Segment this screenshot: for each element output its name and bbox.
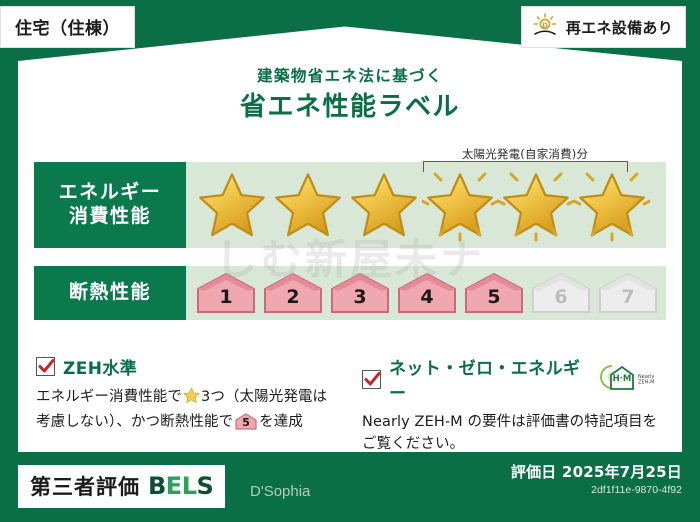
insulation-level-badge: 5 bbox=[464, 271, 524, 315]
evaluation-id: 2df1f11e-9870-4f92 bbox=[511, 484, 682, 496]
star-icon bbox=[577, 171, 647, 239]
label-title: 省エネ性能ラベル bbox=[0, 86, 700, 123]
zeh-heading-text: ZEH水準 bbox=[63, 354, 137, 379]
insulation-performance-row: 断熱性能 1234567 bbox=[34, 266, 666, 320]
bels-letter-b: B bbox=[148, 472, 166, 500]
star-icon bbox=[273, 171, 343, 239]
bels-letter-s: S bbox=[196, 472, 213, 500]
bels-logo: BELS bbox=[148, 472, 213, 500]
insulation-level-number: 4 bbox=[420, 288, 433, 315]
insulation-level-badge: 2 bbox=[263, 271, 323, 315]
insulation-level-badge: 7 bbox=[598, 271, 658, 315]
zeh-body-part3: を達成 bbox=[259, 414, 303, 430]
insulation-level-number: 7 bbox=[621, 288, 634, 315]
insulation-level-number: 1 bbox=[219, 288, 232, 315]
energy-label-line1: エネルギー bbox=[59, 181, 162, 205]
zeh-checkbox[interactable] bbox=[36, 357, 55, 376]
zeh-m-logo: H·M Nearly ZEH-M bbox=[600, 362, 662, 396]
insulation-level-number: 3 bbox=[353, 288, 366, 315]
stars-track bbox=[186, 162, 666, 248]
nze-body-text: Nearly ZEH-M の要件は評価書の特記項目をご覧ください。 bbox=[362, 411, 662, 455]
energy-star bbox=[346, 168, 422, 242]
solar-bracket bbox=[423, 161, 628, 172]
insulation-level-badge: 3 bbox=[330, 271, 390, 315]
star-icon bbox=[197, 171, 267, 239]
energy-star bbox=[422, 168, 498, 242]
label-subtitle: 建築物省エネ法に基づく bbox=[0, 64, 700, 86]
bels-letter-el: EL bbox=[166, 472, 197, 500]
renewable-badge-text: 再エネ設備あり bbox=[566, 17, 673, 38]
insulation-level-badge: 6 bbox=[531, 271, 591, 315]
insulation-label-text: 断熱性能 bbox=[69, 281, 151, 305]
solar-annotation-text: 太陽光発電(自家消費)分 bbox=[420, 146, 630, 162]
zeh-m-logo-text: H·M bbox=[613, 374, 632, 384]
solar-sun-icon: D bbox=[532, 13, 558, 41]
star-icon bbox=[349, 171, 419, 239]
net-zero-energy-section: ネット・ゼロ・エネルギー H·M Nearly ZEH-M Nearly ZEH… bbox=[362, 354, 662, 455]
nze-heading-text: ネット・ゼロ・エネルギー bbox=[389, 354, 587, 404]
insulation-label-box: 断熱性能 bbox=[34, 266, 186, 320]
energy-star bbox=[270, 168, 346, 242]
star-icon bbox=[425, 171, 495, 239]
energy-performance-row: エネルギー 消費性能 bbox=[34, 162, 666, 248]
third-party-eval-text: 第三者評価 bbox=[30, 471, 140, 501]
bels-footer-chip: 第三者評価 BELS bbox=[18, 465, 225, 508]
insulation-level-number: 5 bbox=[487, 288, 500, 315]
check-icon bbox=[364, 371, 381, 388]
check-icon bbox=[38, 358, 55, 375]
insulation-level-badge: 1 bbox=[196, 271, 256, 315]
building-type-chip: 住宅（住棟） bbox=[0, 6, 135, 48]
renewable-energy-badge: D 再エネ設備あり bbox=[521, 6, 686, 48]
star-icon bbox=[501, 171, 571, 239]
evaluation-date: 評価日 2025年7月25日 bbox=[511, 461, 682, 482]
energy-star bbox=[194, 168, 270, 242]
insulation-level-badge: 4 bbox=[397, 271, 457, 315]
inline-house-level-icon: 5 bbox=[235, 413, 257, 437]
energy-star bbox=[498, 168, 574, 242]
insulation-levels-track: 1234567 bbox=[186, 266, 666, 320]
svg-text:D: D bbox=[542, 21, 548, 29]
zeh-m-logo-sub2: ZEH-M bbox=[638, 380, 654, 386]
energy-performance-label-box: エネルギー 消費性能 bbox=[34, 162, 186, 248]
zeh-heading-row: ZEH水準 bbox=[36, 354, 336, 379]
zeh-body-text: エネルギー消費性能で3つ（太陽光発電は考慮しない）、かつ断熱性能で5を達成 bbox=[36, 386, 336, 437]
energy-star bbox=[574, 168, 650, 242]
zeh-standard-section: ZEH水準 エネルギー消費性能で3つ（太陽光発電は考慮しない）、かつ断熱性能で5… bbox=[36, 354, 336, 437]
energy-label-line2: 消費性能 bbox=[69, 205, 151, 229]
insulation-level-number: 2 bbox=[286, 288, 299, 315]
inline-star-icon bbox=[183, 387, 200, 411]
nze-heading-row: ネット・ゼロ・エネルギー H·M Nearly ZEH-M bbox=[362, 354, 662, 404]
building-type-text: 住宅（住棟） bbox=[15, 19, 120, 39]
insulation-level-number: 6 bbox=[554, 288, 567, 315]
energy-performance-label: 住宅（住棟） D 再エネ設備あり 建築物省エネ法に基づく 省エネ性能ラベル 太陽… bbox=[0, 0, 700, 522]
brand-name: D'Sophia bbox=[250, 483, 310, 500]
inline-house-level-number: 5 bbox=[235, 415, 257, 432]
evaluation-info: 評価日 2025年7月25日 2df1f11e-9870-4f92 bbox=[511, 461, 682, 496]
zeh-body-part1: エネルギー消費性能で bbox=[36, 389, 182, 405]
nze-checkbox[interactable] bbox=[362, 370, 381, 389]
